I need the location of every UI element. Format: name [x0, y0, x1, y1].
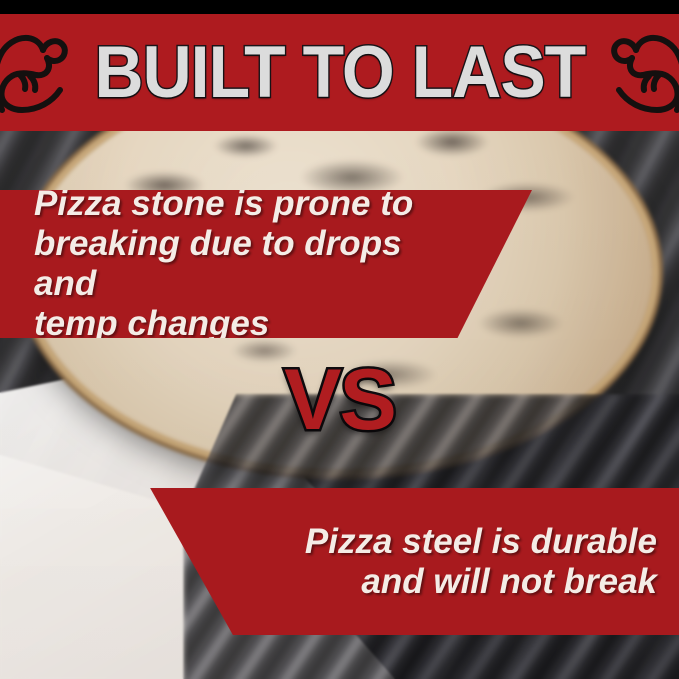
callout-line: Pizza stone is prone to — [34, 184, 413, 223]
header-banner: BUILT TO LAST — [0, 14, 679, 131]
page-title: BUILT TO LAST — [94, 36, 585, 109]
callout-line: and will not break — [361, 562, 657, 601]
callout-pizza-steel-text: Pizza steel is durable and will not brea… — [305, 522, 657, 602]
callout-pizza-steel: Pizza steel is durable and will not brea… — [148, 488, 679, 635]
flexed-bicep-icon — [0, 26, 72, 119]
callout-line: breaking due to drops and — [34, 224, 402, 303]
product-comparison-infographic: BUILT TO LAST Pizza stone is prone to br… — [0, 0, 679, 679]
callout-line: Pizza steel is durable — [305, 522, 657, 561]
callout-pizza-stone-text: Pizza stone is prone to breaking due to … — [34, 184, 458, 344]
callout-line: temp changes — [34, 304, 269, 343]
flexed-bicep-icon — [607, 26, 679, 119]
versus-label: VS — [0, 357, 679, 443]
callout-pizza-stone: Pizza stone is prone to breaking due to … — [0, 190, 532, 338]
top-black-bar — [0, 0, 679, 14]
